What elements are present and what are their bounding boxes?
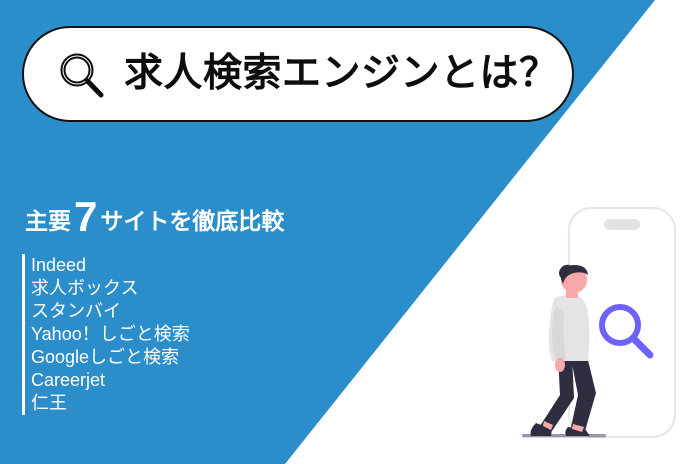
phone-speaker-notch [604, 219, 640, 230]
subtitle: 主要 7 サイトを徹底比較 [25, 194, 284, 236]
page-title: 求人検索エンジンとは？ [124, 54, 559, 93]
list-item: Careerjet [31, 369, 190, 392]
subtitle-suffix: サイトを徹底比較 [100, 210, 284, 233]
list-item: 求人ボックス [31, 277, 190, 300]
list-item: Yahoo！しごと検索 [31, 323, 190, 346]
subtitle-count: 7 [71, 196, 100, 238]
site-list: Indeed 求人ボックス スタンバイ Yahoo！しごと検索 Googleしご… [22, 254, 190, 415]
title-search-pill: 求人検索エンジンとは？ [22, 26, 574, 122]
magnifier-icon [54, 47, 110, 103]
list-item: Googleしごと検索 [31, 346, 190, 369]
subtitle-prefix: 主要 [25, 210, 71, 233]
slide-canvas: 求人検索エンジンとは？ 主要 7 サイトを徹底比較 Indeed 求人ボックス … [0, 0, 700, 464]
list-item: スタンバイ [31, 300, 190, 323]
illustration-person-searching-on-phone [500, 195, 700, 455]
list-item: Indeed [31, 254, 190, 277]
list-item: 仁王 [31, 392, 190, 415]
